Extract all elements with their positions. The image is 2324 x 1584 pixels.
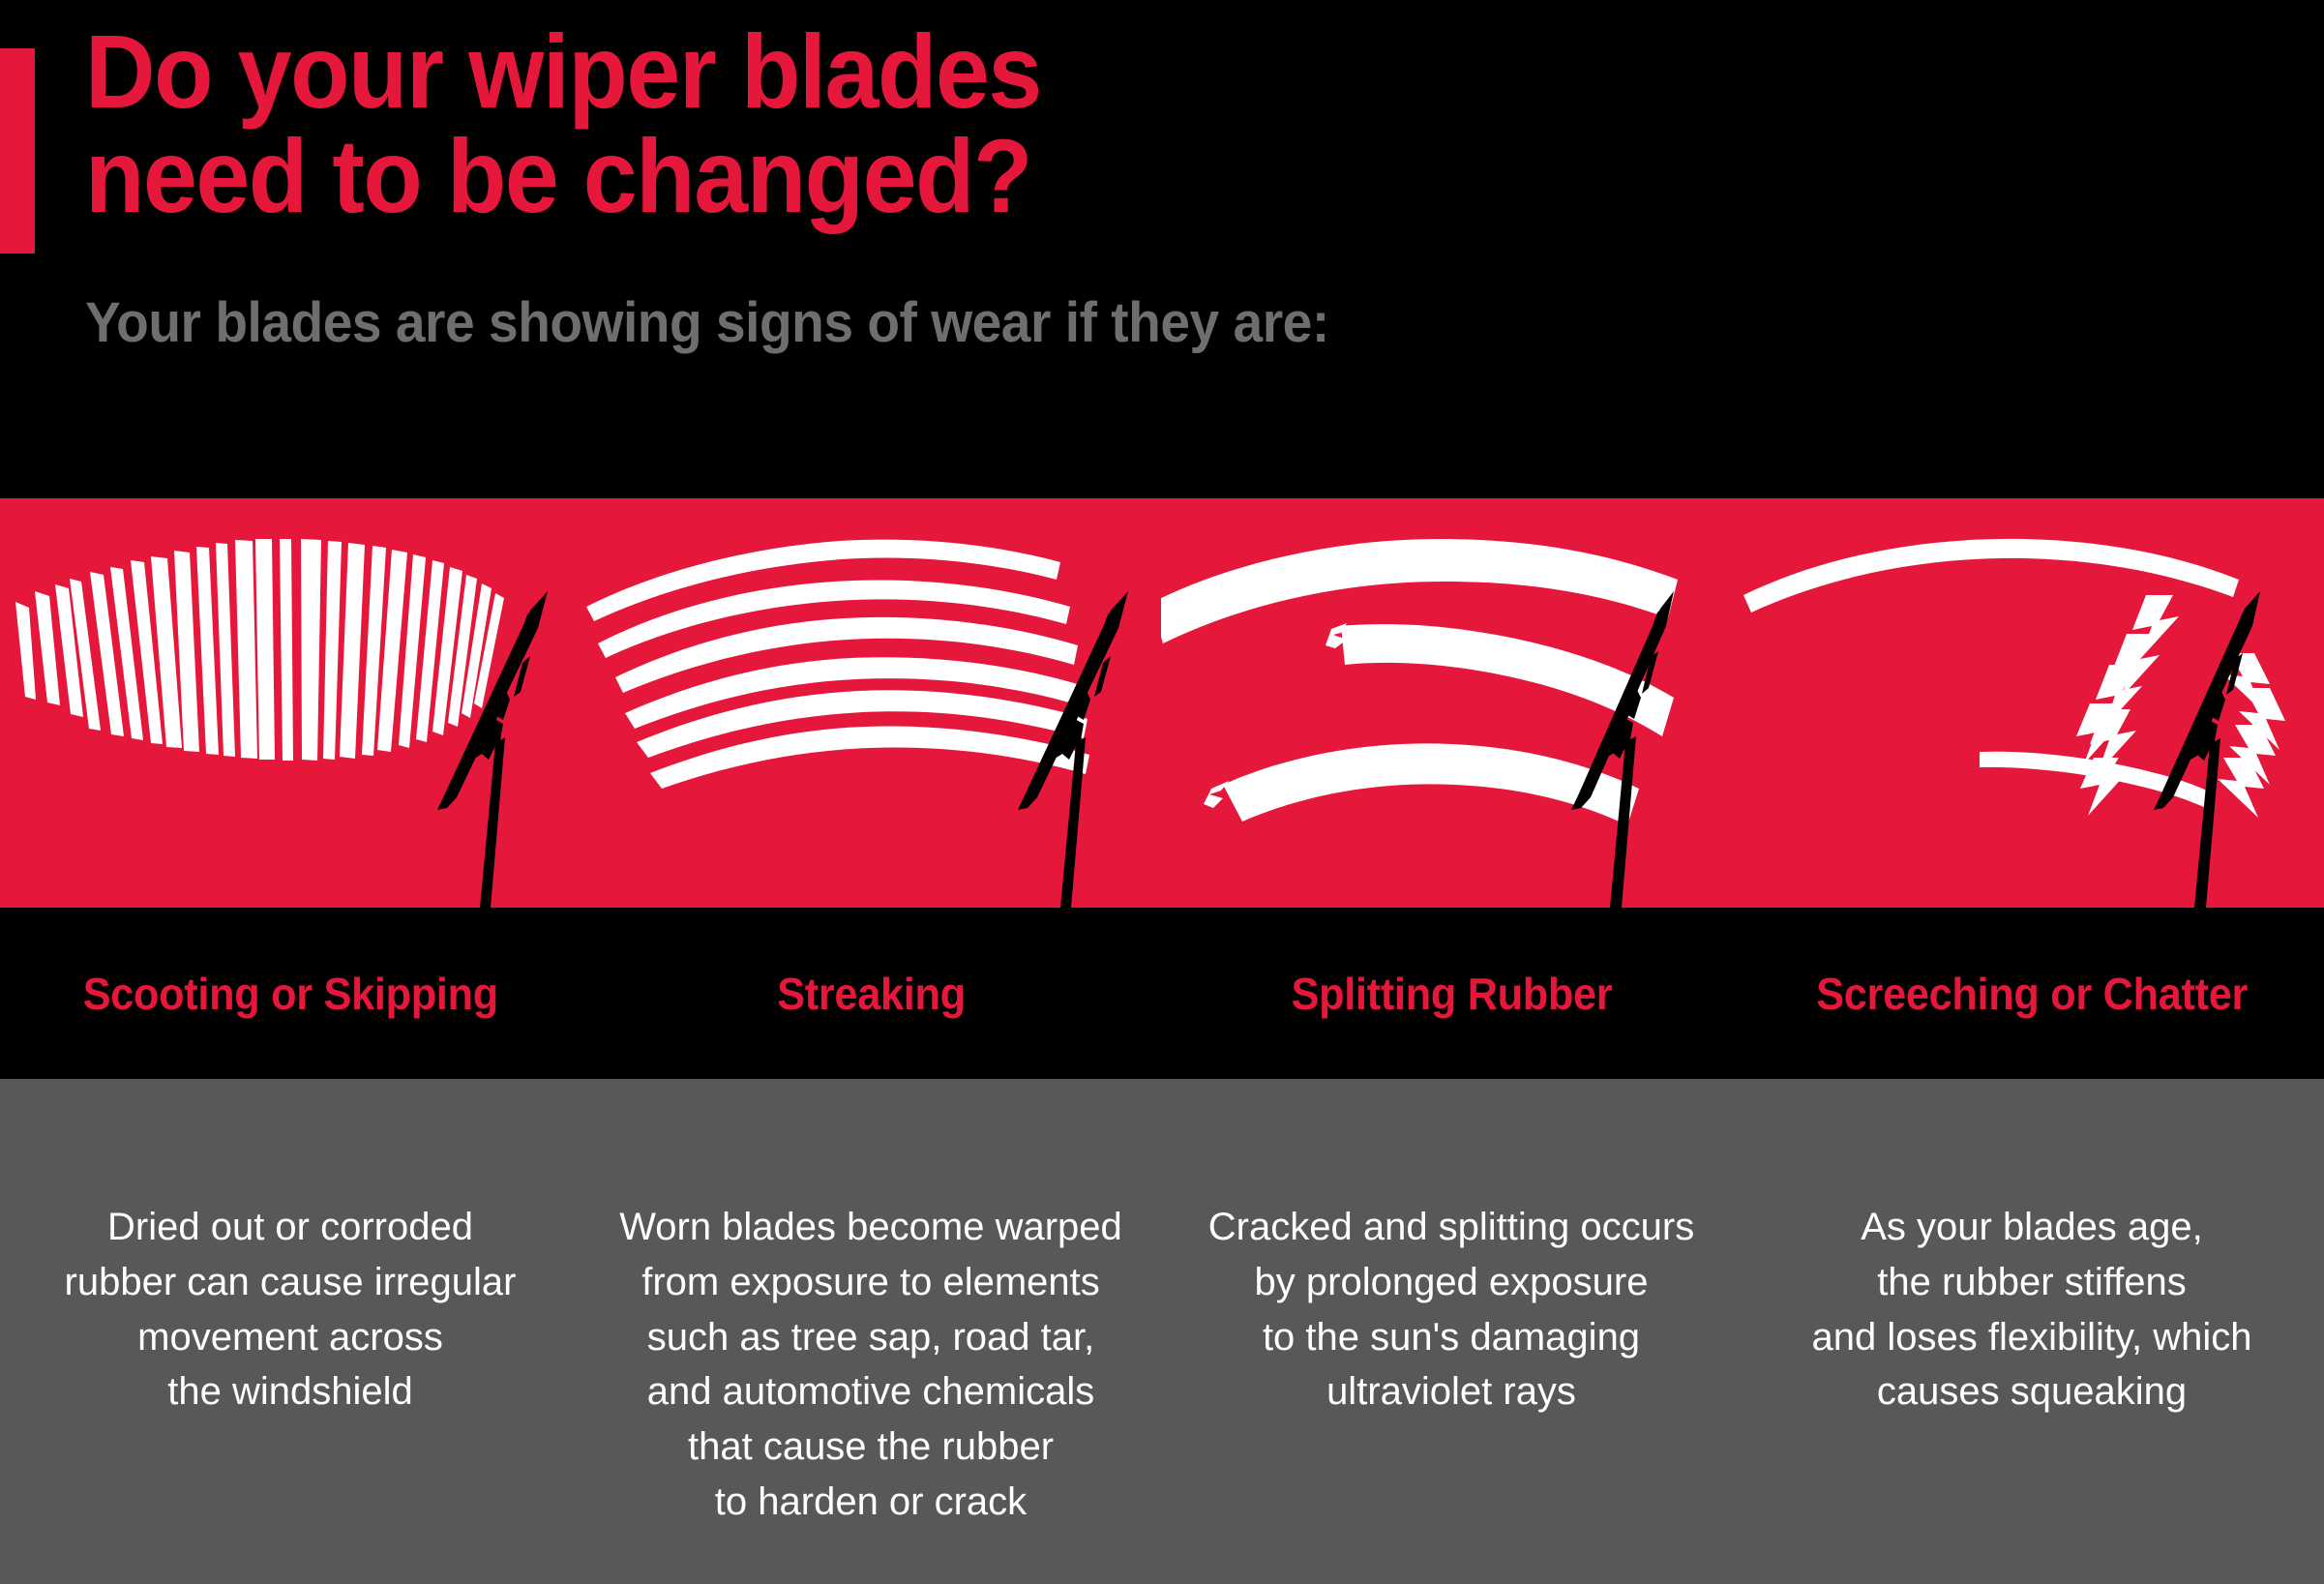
- illustration-scooting-or-skipping: [0, 498, 581, 908]
- illustration-streaking: [581, 498, 1161, 908]
- label-text: Streaking: [777, 968, 966, 1020]
- description-splitting-rubber: Cracked and splitting occurs by prolonge…: [1161, 1200, 1742, 1420]
- illustration-screeching-or-chatter: [1742, 498, 2322, 908]
- broad-arcs-wiper-icon: [1161, 498, 1742, 908]
- lightning-bolts-wiper-icon: [1742, 498, 2322, 908]
- radial-streaks-wiper-icon: [0, 498, 581, 908]
- page-subtitle: Your blades are showing signs of wear if…: [85, 295, 1740, 351]
- label-scooting-or-skipping: Scooting or Skipping: [0, 908, 581, 1079]
- label-streaking: Streaking: [581, 908, 1161, 1079]
- page-title: Do your wiper blades need to be changed?: [85, 19, 1525, 228]
- description-streaking: Worn blades become warped from exposure …: [581, 1200, 1161, 1530]
- illustration-splitting-rubber: [1161, 498, 1742, 908]
- accent-bar-decoration: [0, 48, 35, 254]
- label-text: Scooting or Skipping: [82, 968, 497, 1020]
- concentric-streaks-wiper-icon: [581, 498, 1161, 908]
- label-screeching-or-chatter: Screeching or Chatter: [1742, 908, 2322, 1079]
- wiper-blade-shape: [1571, 591, 1674, 908]
- description-scooting-or-skipping: Dried out or corroded rubber can cause i…: [0, 1200, 581, 1420]
- description-screeching-or-chatter: As your blades age, the rubber stiffens …: [1742, 1200, 2322, 1420]
- label-text: Splitting Rubber: [1291, 968, 1612, 1020]
- header-section: Do your wiper blades need to be changed?…: [0, 0, 2324, 498]
- label-text: Screeching or Chatter: [1816, 968, 2248, 1020]
- description-band: Dried out or corroded rubber can cause i…: [0, 1079, 2324, 1584]
- label-band: Scooting or Skipping Streaking Splitting…: [0, 908, 2324, 1079]
- label-splitting-rubber: Splitting Rubber: [1161, 908, 1742, 1079]
- infographic-page: Do your wiper blades need to be changed?…: [0, 0, 2324, 1584]
- illustration-band: [0, 498, 2324, 908]
